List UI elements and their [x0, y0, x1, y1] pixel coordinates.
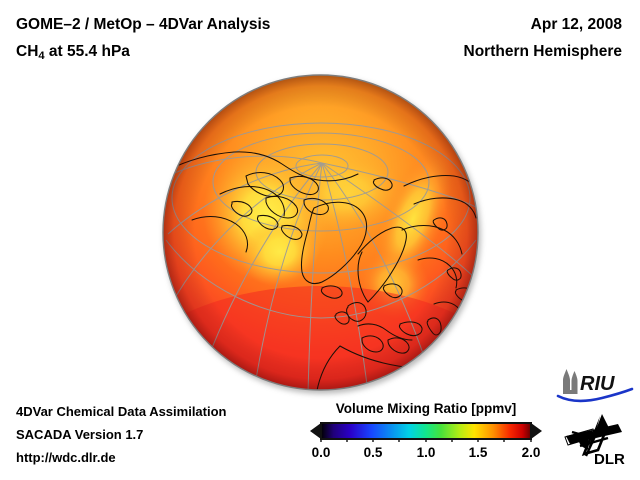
dlr-wordmark: DLR	[594, 451, 625, 468]
globe-disc	[162, 75, 479, 391]
region-label: Northern Hemisphere	[464, 43, 622, 61]
date-label: Apr 12, 2008	[531, 16, 622, 34]
riu-cathedral-icon	[563, 369, 578, 394]
dlr-mark-icon	[565, 414, 622, 456]
colorbar-tick-3: 1.5	[469, 445, 488, 460]
riu-wordmark: RIU	[580, 373, 615, 395]
colorbar-gradient	[321, 423, 531, 439]
credit-line-2: SACADA Version 1.7	[16, 427, 143, 442]
page-title: GOME–2 / MetOp – 4DVar Analysis	[16, 16, 270, 34]
colorbar-tick-4: 2.0	[522, 445, 541, 460]
credit-line-url: http://wdc.dlr.de	[16, 450, 116, 465]
globe-map	[162, 74, 479, 391]
credit-line-1: 4DVar Chemical Data Assimilation	[16, 404, 227, 419]
colorbar-tick-0: 0.0	[312, 445, 331, 460]
colorbar-tick-2: 1.0	[417, 445, 436, 460]
colorbar-title: Volume Mixing Ratio [ppmv]	[318, 401, 534, 416]
riu-logo: RIU	[556, 368, 634, 404]
species-level-label: CH4 at 55.4 hPa	[16, 43, 130, 62]
colorbar-tick-labels: 0.0 0.5 1.0 1.5 2.0	[310, 445, 542, 465]
colorbar	[310, 420, 542, 442]
colorbar-tick-1: 0.5	[364, 445, 383, 460]
level-text: at 55.4 hPa	[45, 43, 130, 60]
dlr-logo: DLR	[562, 412, 634, 468]
colorbar-extend-low	[310, 423, 321, 439]
species-formula: CH	[16, 43, 38, 60]
colorbar-extend-high	[531, 423, 542, 439]
